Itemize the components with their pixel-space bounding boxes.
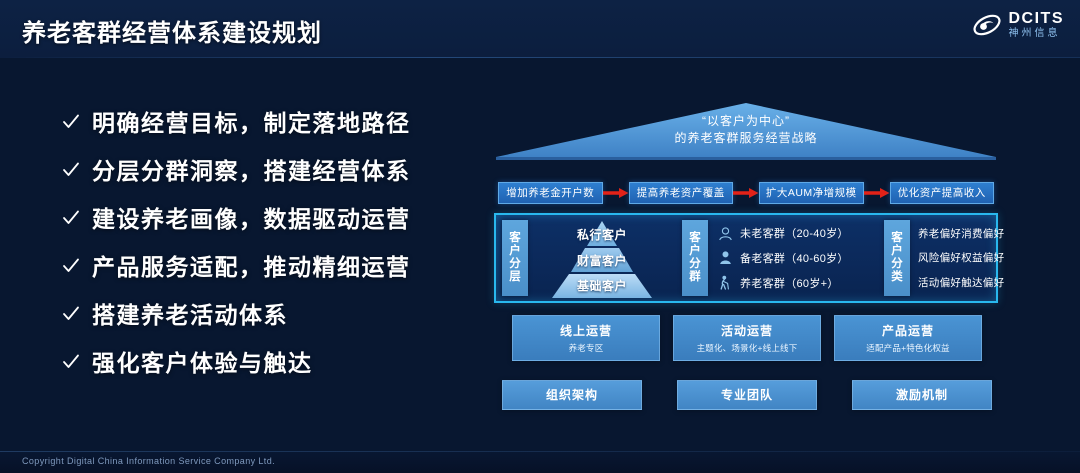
preference-grid: 养老偏好 消费偏好 风险偏好 权益偏好 活动偏好 触达偏好 <box>910 215 1010 301</box>
customer-pyramid: 私行客户 财富客户 基础客户 <box>528 215 676 301</box>
brand-name-cn: 神州信息 <box>1009 29 1065 39</box>
right-arrow-icon <box>603 187 629 199</box>
elderly-person-icon <box>718 275 733 290</box>
preference-cell: 养老偏好 <box>918 226 961 241</box>
preference-cell: 活动偏好 <box>918 275 961 290</box>
check-icon <box>62 161 80 179</box>
segment-vertical-label: 客户分层 <box>502 220 528 296</box>
young-person-icon <box>718 226 733 241</box>
goal-box[interactable]: 增加养老金开户数 <box>498 182 603 204</box>
adult-person-icon <box>718 250 733 265</box>
dcits-swirl-icon <box>972 10 1002 40</box>
check-icon <box>62 209 80 227</box>
strategy-diagram: “以客户为中心” 的养老客群服务经营战略 增加养老金开户数 提高养老资产覆盖 扩… <box>490 95 1002 425</box>
customer-group-item: 养老客群（60岁+） <box>718 272 878 294</box>
checklist-item-label: 强化客户体验与触达 <box>92 344 313 378</box>
checklist-item: 明确经营目标，制定落地路径 <box>62 104 462 138</box>
goal-box[interactable]: 优化资产提高收入 <box>890 182 995 204</box>
goal-box[interactable]: 扩大AUM净增规模 <box>759 182 864 204</box>
operation-card[interactable]: 线上运营 养老专区 <box>512 315 660 361</box>
check-icon <box>62 257 80 275</box>
brand-logo: DCITS 神州信息 <box>972 10 1065 40</box>
check-icon <box>62 305 80 323</box>
check-icon <box>62 353 80 371</box>
page-title: 养老客群经营体系建设规划 <box>22 13 322 48</box>
operations-row: 线上运营 养老专区 活动运营 主题化、场景化+线上线下 产品运营 适配产品+特色… <box>512 315 982 361</box>
checklist-item-label: 分层分群洞察，搭建经营体系 <box>92 152 411 186</box>
right-arrow-icon <box>864 187 890 199</box>
operation-card-title: 活动运营 <box>721 322 773 339</box>
preference-cell: 权益偏好 <box>961 250 1004 265</box>
preference-cell: 触达偏好 <box>961 275 1004 290</box>
right-arrow-icon <box>733 187 759 199</box>
operation-card-sub: 适配产品+特色化权益 <box>866 342 949 354</box>
operation-card-title: 产品运营 <box>882 322 934 339</box>
copyright-text: Copyright Digital China Information Serv… <box>22 456 275 466</box>
operation-card[interactable]: 产品运营 适配产品+特色化权益 <box>834 315 982 361</box>
roof-text: “以客户为中心” 的养老客群服务经营战略 <box>490 113 1002 148</box>
checklist-item: 强化客户体验与触达 <box>62 344 462 378</box>
category-vertical-label: 客户分类 <box>884 220 910 296</box>
preference-cell: 消费偏好 <box>961 226 1004 241</box>
checklist-item-label: 产品服务适配，推动精细运营 <box>92 248 411 282</box>
customer-group-label: 未老客群（20-40岁） <box>740 225 849 241</box>
operation-card[interactable]: 活动运营 主题化、场景化+线上线下 <box>673 315 821 361</box>
foundation-row: 组织架构 专业团队 激励机制 <box>502 380 992 410</box>
foundation-card[interactable]: 激励机制 <box>852 380 992 410</box>
goal-chain: 增加养老金开户数 提高养老资产覆盖 扩大AUM净增规模 优化资产提高收入 <box>498 181 994 205</box>
pyramid-tier-base: 基础客户 <box>528 277 676 294</box>
brand-text: DCITS 神州信息 <box>1009 11 1065 39</box>
check-icon <box>62 113 80 131</box>
slide-footer: Copyright Digital China Information Serv… <box>0 451 1080 473</box>
operation-card-sub: 主题化、场景化+线上线下 <box>697 342 798 354</box>
operation-card-title: 线上运营 <box>560 322 612 339</box>
goal-box[interactable]: 提高养老资产覆盖 <box>629 182 734 204</box>
checklist-item: 分层分群洞察，搭建经营体系 <box>62 152 462 186</box>
brand-name-en: DCITS <box>1009 11 1065 27</box>
foundation-card[interactable]: 专业团队 <box>677 380 817 410</box>
roof-line-1: “以客户为中心” <box>490 113 1002 130</box>
group-vertical-label: 客户分群 <box>682 220 708 296</box>
checklist-item-label: 建设养老画像，数据驱动运营 <box>92 200 411 234</box>
roof-line-2: 的养老客群服务经营战略 <box>490 130 1002 147</box>
slide-header: 养老客群经营体系建设规划 DCITS 神州信息 <box>0 0 1080 58</box>
slide-canvas: 养老客群经营体系建设规划 DCITS 神州信息 明确经营目标，制定落地路径 <box>0 0 1080 473</box>
operation-card-sub: 养老专区 <box>569 342 604 354</box>
customer-group-item: 未老客群（20-40岁） <box>718 222 878 244</box>
strategy-roof: “以客户为中心” 的养老客群服务经营战略 <box>490 95 1002 173</box>
pyramid-tier-mid: 财富客户 <box>528 252 676 269</box>
customer-group-label: 养老客群（60岁+） <box>740 275 839 291</box>
pyramid-tier-top: 私行客户 <box>528 226 676 243</box>
checklist-item-label: 搭建养老活动体系 <box>92 296 288 330</box>
checklist-item: 建设养老画像，数据驱动运营 <box>62 200 462 234</box>
customer-panel: 客户分层 <box>494 213 998 303</box>
foundation-card[interactable]: 组织架构 <box>502 380 642 410</box>
customer-group-list: 未老客群（20-40岁） 备老客群（40-60岁） <box>708 215 878 301</box>
customer-group-label: 备老客群（40-60岁） <box>740 250 849 266</box>
checklist-item: 产品服务适配，推动精细运营 <box>62 248 462 282</box>
preference-cell: 风险偏好 <box>918 250 961 265</box>
customer-group-item: 备老客群（40-60岁） <box>718 247 878 269</box>
checklist-item: 搭建养老活动体系 <box>62 296 462 330</box>
checklist-item-label: 明确经营目标，制定落地路径 <box>92 104 411 138</box>
checklist: 明确经营目标，制定落地路径 分层分群洞察，搭建经营体系 建设养老画像，数据驱动运… <box>62 104 462 392</box>
